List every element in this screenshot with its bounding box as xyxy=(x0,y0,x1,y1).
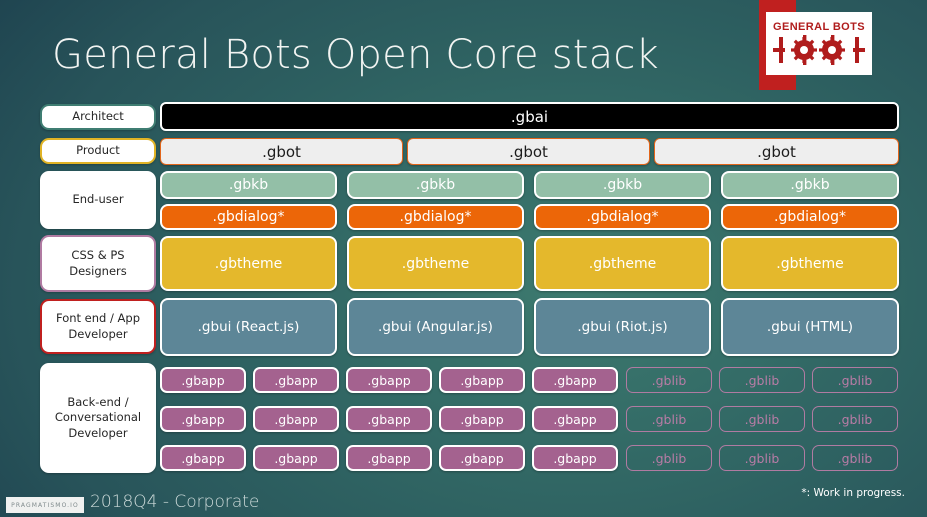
module-tile-label: .gblib xyxy=(745,412,780,427)
module-tile-gbapp[interactable]: .gbapp xyxy=(532,367,618,393)
role-label-end-user: End-user xyxy=(40,171,156,229)
layer-tile-gbai[interactable]: .gbai xyxy=(160,102,899,131)
layer-tile-label: .gbkb xyxy=(790,177,829,193)
layer-tile-gbtheme[interactable]: .gbtheme xyxy=(721,236,899,291)
module-tile-label: .gbapp xyxy=(367,373,410,388)
pragmatismo-logo: PRAGMATISMO.IO xyxy=(6,497,84,513)
layer-tile-gbtheme[interactable]: .gbtheme xyxy=(347,236,524,291)
layer-tile-label: .gbdialog* xyxy=(587,209,659,225)
layer-tile-gbot[interactable]: .gbot xyxy=(160,138,403,165)
role-label-text: Font end / App Developer xyxy=(56,311,140,342)
layer-tile-label: .gbtheme xyxy=(215,256,282,272)
module-tile-label: .gbapp xyxy=(460,412,503,427)
module-tile-gbapp[interactable]: .gbapp xyxy=(160,445,246,471)
pragmatismo-logo-text: PRAGMATISMO.IO xyxy=(11,502,79,509)
module-tile-label: .gbapp xyxy=(367,451,410,466)
role-label-text: Product xyxy=(76,143,120,159)
module-tile-label: .gblib xyxy=(838,451,873,466)
module-tile-label: .gbapp xyxy=(460,373,503,388)
module-tile-label: .gblib xyxy=(838,373,873,388)
module-tile-gblib[interactable]: .gblib xyxy=(812,445,898,471)
module-tile-label: .gblib xyxy=(652,373,687,388)
module-tile-label: .gbapp xyxy=(181,412,224,427)
module-tile-gblib[interactable]: .gblib xyxy=(719,406,805,432)
layer-tile-label: .gbot xyxy=(509,143,548,161)
role-label-front-end-app-developer: Font end / App Developer xyxy=(40,299,156,354)
layer-tile-label: .gbdialog* xyxy=(774,209,846,225)
layer-tile-label: .gbdialog* xyxy=(213,209,285,225)
layer-tile-label: .gbui (Riot.js) xyxy=(577,319,667,335)
module-tile-gbapp[interactable]: .gbapp xyxy=(439,406,525,432)
module-tile-gbapp[interactable]: .gbapp xyxy=(532,445,618,471)
layer-tile-gbui-html[interactable]: .gbui (HTML) xyxy=(721,298,899,356)
module-tile-label: .gbapp xyxy=(274,412,317,427)
module-tile-gbapp[interactable]: .gbapp xyxy=(253,367,339,393)
layer-tile-gbkb[interactable]: .gbkb xyxy=(160,171,337,199)
module-tile-gbapp[interactable]: .gbapp xyxy=(160,367,246,393)
module-tile-gbapp[interactable]: .gbapp xyxy=(346,406,432,432)
role-label-text: CSS & PS Designers xyxy=(69,248,127,279)
module-tile-label: .gbapp xyxy=(274,373,317,388)
layer-tile-gbkb[interactable]: .gbkb xyxy=(721,171,899,199)
footer-caption: 2018Q4 - Corporate xyxy=(90,492,259,512)
module-tile-label: .gblib xyxy=(745,373,780,388)
module-tile-gblib[interactable]: .gblib xyxy=(626,445,712,471)
module-tile-gblib[interactable]: .gblib xyxy=(812,367,898,393)
layer-tile-gbtheme[interactable]: .gbtheme xyxy=(160,236,337,291)
module-tile-label: .gbapp xyxy=(553,412,596,427)
layer-tile-gbdialog[interactable]: .gbdialog* xyxy=(721,204,899,230)
module-tile-label: .gbapp xyxy=(181,451,224,466)
module-tile-gbapp[interactable]: .gbapp xyxy=(346,367,432,393)
module-tile-label: .gbapp xyxy=(367,412,410,427)
module-tile-label: .gbapp xyxy=(553,451,596,466)
layer-tile-label: .gbtheme xyxy=(776,256,843,272)
role-label-architect: Architect xyxy=(40,104,156,130)
layer-tile-gbot[interactable]: .gbot xyxy=(407,138,650,165)
layer-tile-label: .gbai xyxy=(511,108,548,126)
module-tile-gblib[interactable]: .gblib xyxy=(626,367,712,393)
module-tile-gblib[interactable]: .gblib xyxy=(626,406,712,432)
role-label-text: End-user xyxy=(72,192,123,208)
layer-tile-gbtheme[interactable]: .gbtheme xyxy=(534,236,711,291)
layer-tile-label: .gbkb xyxy=(603,177,642,193)
gears-logo-icon xyxy=(773,35,865,65)
general-bots-logo: GENERAL BOTS xyxy=(766,12,872,75)
layer-tile-gbui-angular[interactable]: .gbui (Angular.js) xyxy=(347,298,524,356)
role-label-css-ps-designers: CSS & PS Designers xyxy=(40,235,156,292)
layer-tile-label: .gbui (HTML) xyxy=(767,319,853,335)
layer-tile-label: .gbot xyxy=(262,143,301,161)
role-label-back-end-conversational-developer: Back-end / Conversational Developer xyxy=(40,363,156,473)
module-tile-label: .gblib xyxy=(745,451,780,466)
layer-tile-gbkb[interactable]: .gbkb xyxy=(534,171,711,199)
layer-tile-gbdialog[interactable]: .gbdialog* xyxy=(347,204,524,230)
layer-tile-label: .gbkb xyxy=(416,177,455,193)
module-tile-label: .gbapp xyxy=(553,373,596,388)
layer-tile-gbdialog[interactable]: .gbdialog* xyxy=(534,204,711,230)
module-tile-gbapp[interactable]: .gbapp xyxy=(532,406,618,432)
module-tile-label: .gblib xyxy=(652,451,687,466)
layer-tile-gbui-riot[interactable]: .gbui (Riot.js) xyxy=(534,298,711,356)
layer-tile-label: .gbtheme xyxy=(589,256,656,272)
layer-tile-label: .gbkb xyxy=(229,177,268,193)
module-tile-gbapp[interactable]: .gbapp xyxy=(253,445,339,471)
layer-tile-gbot[interactable]: .gbot xyxy=(654,138,899,165)
layer-tile-gbdialog[interactable]: .gbdialog* xyxy=(160,204,337,230)
module-tile-gblib[interactable]: .gblib xyxy=(812,406,898,432)
layer-tile-label: .gbtheme xyxy=(402,256,469,272)
module-tile-label: .gblib xyxy=(652,412,687,427)
layer-tile-label: .gbot xyxy=(757,143,796,161)
work-in-progress-footnote: *: Work in progress. xyxy=(801,487,905,499)
module-tile-label: .gbapp xyxy=(274,451,317,466)
layer-tile-label: .gbui (React.js) xyxy=(198,319,300,335)
module-tile-gbapp[interactable]: .gbapp xyxy=(439,367,525,393)
role-label-text: Back-end / Conversational Developer xyxy=(55,395,141,442)
layer-tile-gbkb[interactable]: .gbkb xyxy=(347,171,524,199)
layer-tile-gbui-react[interactable]: .gbui (React.js) xyxy=(160,298,337,356)
module-tile-label: .gbapp xyxy=(460,451,503,466)
module-tile-gblib[interactable]: .gblib xyxy=(719,367,805,393)
module-tile-label: .gbapp xyxy=(181,373,224,388)
module-tile-gbapp[interactable]: .gbapp xyxy=(160,406,246,432)
layer-tile-label: .gbui (Angular.js) xyxy=(378,319,493,335)
module-tile-label: .gblib xyxy=(838,412,873,427)
role-label-product: Product xyxy=(40,138,156,164)
role-label-text: Architect xyxy=(72,109,124,125)
slide-canvas: GENERAL BOTS xyxy=(0,0,927,517)
module-tile-gbapp[interactable]: .gbapp xyxy=(253,406,339,432)
module-tile-gbapp[interactable]: .gbapp xyxy=(346,445,432,471)
logo-wordmark: GENERAL BOTS xyxy=(773,22,865,33)
module-tile-gbapp[interactable]: .gbapp xyxy=(439,445,525,471)
module-tile-gblib[interactable]: .gblib xyxy=(719,445,805,471)
layer-tile-label: .gbdialog* xyxy=(400,209,472,225)
page-title: General Bots Open Core stack xyxy=(52,32,659,78)
